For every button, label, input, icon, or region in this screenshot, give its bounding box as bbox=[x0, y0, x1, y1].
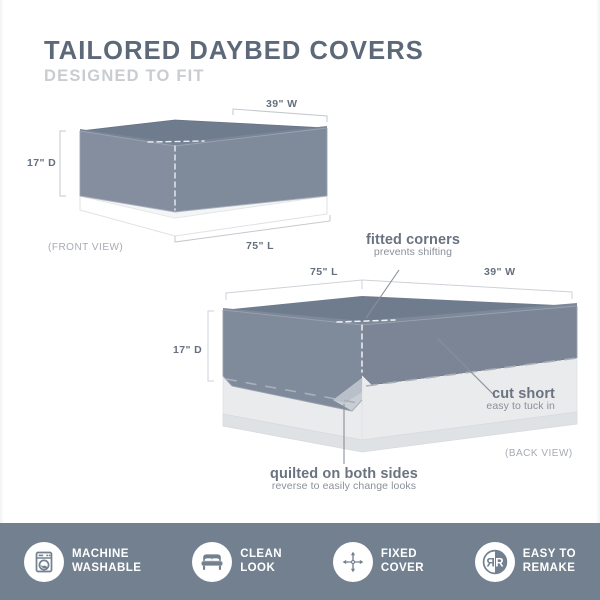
callout-quilted: quilted on both sides reverse to easily … bbox=[229, 466, 459, 492]
feature-fixed-cover: FIXED COVER bbox=[333, 542, 424, 582]
back-view-diagram bbox=[208, 270, 577, 464]
feature-line2: COVER bbox=[381, 562, 424, 576]
feature-line2: REMAKE bbox=[523, 562, 576, 576]
back-dim-length-label: 75" L bbox=[310, 266, 338, 278]
feature-clean-look-text: CLEAN LOOK bbox=[240, 548, 282, 575]
feature-line2: LOOK bbox=[240, 562, 282, 576]
feature-clean-look: CLEAN LOOK bbox=[192, 542, 282, 582]
back-dim-depth-label: 17" D bbox=[173, 344, 202, 356]
back-dim-depth-bracket bbox=[208, 311, 214, 381]
svg-text:R: R bbox=[495, 557, 504, 569]
callout-fitted-corners: fitted corners prevents shifting bbox=[318, 232, 508, 258]
svg-text:R: R bbox=[486, 557, 495, 569]
front-view-diagram bbox=[60, 109, 330, 242]
callout-fitted-corners-subtitle: prevents shifting bbox=[318, 246, 508, 258]
feature-line1: CLEAN bbox=[240, 548, 282, 562]
washing-machine-icon bbox=[24, 542, 64, 582]
callout-quilted-subtitle: reverse to easily change looks bbox=[229, 480, 459, 492]
feature-line1: EASY TO bbox=[523, 548, 576, 562]
feature-easy-to-remake-text: EASY TO REMAKE bbox=[523, 548, 576, 575]
feature-line1: FIXED bbox=[381, 548, 424, 562]
back-dim-top-bracket bbox=[226, 280, 572, 300]
callout-cut-short: cut short easy to tuck in bbox=[400, 386, 555, 412]
front-dim-depth-label: 17" D bbox=[27, 157, 56, 169]
feature-machine-washable-text: MACHINE WASHABLE bbox=[72, 548, 141, 575]
feature-line2: WASHABLE bbox=[72, 562, 141, 576]
infographic-page: TAILORED DAYBED COVERS DESIGNED TO FIT bbox=[0, 0, 600, 600]
front-view-tag: (FRONT VIEW) bbox=[48, 242, 123, 253]
feature-machine-washable: MACHINE WASHABLE bbox=[24, 542, 141, 582]
feature-bar: MACHINE WASHABLE CLEAN LOOK bbox=[0, 523, 600, 600]
feature-line1: MACHINE bbox=[72, 548, 141, 562]
feature-fixed-cover-text: FIXED COVER bbox=[381, 548, 424, 575]
front-dim-length-label: 75" L bbox=[246, 240, 274, 252]
feature-easy-to-remake: R R EASY TO REMAKE bbox=[475, 542, 576, 582]
back-dim-width-label: 39" W bbox=[484, 266, 516, 278]
front-dim-width-bracket bbox=[233, 109, 327, 122]
front-dim-width-label: 39" W bbox=[266, 98, 298, 110]
reversible-r-icon: R R bbox=[475, 542, 515, 582]
callout-cut-short-subtitle: easy to tuck in bbox=[400, 400, 555, 412]
four-arrows-icon bbox=[333, 542, 373, 582]
front-dim-depth-bracket bbox=[60, 131, 66, 196]
diagram-stage bbox=[0, 0, 600, 523]
bed-icon bbox=[192, 542, 232, 582]
back-view-tag: (BACK VIEW) bbox=[505, 448, 573, 459]
